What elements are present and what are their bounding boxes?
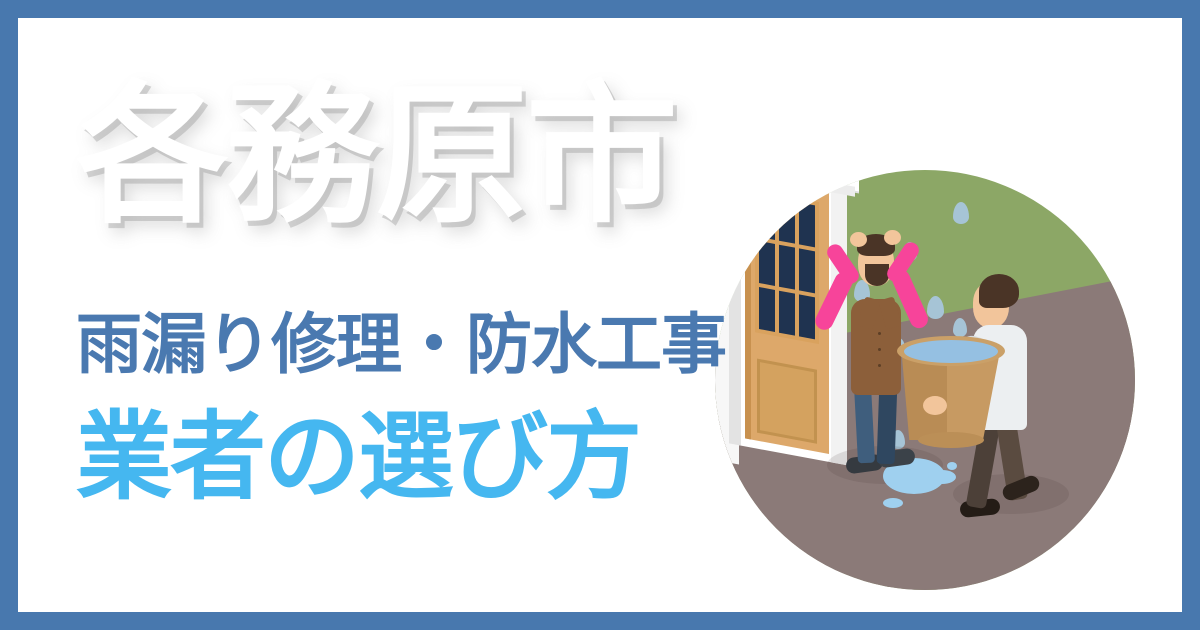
bucket-water	[904, 340, 998, 363]
button	[878, 348, 881, 351]
water-puddle	[947, 462, 957, 470]
banner-subtitle: 雨漏り修理・防水工事	[76, 311, 726, 377]
glass-pane	[779, 245, 795, 290]
door-assembly	[715, 170, 861, 478]
door-casing-shadow	[729, 170, 741, 446]
glass-pane	[759, 195, 775, 240]
raindrop	[953, 318, 967, 337]
banner-tagline: 業者の選び方	[76, 410, 640, 506]
glass-pane	[759, 287, 775, 332]
hand	[923, 396, 947, 415]
banner-inner: 各務原市 雨漏り修理・防水工事 業者の選び方	[18, 18, 1182, 612]
glass-pane	[779, 199, 795, 244]
bucket-base	[918, 432, 984, 448]
hair	[979, 274, 1019, 308]
door-lower-panel	[757, 359, 817, 444]
roof-leak-illustration	[715, 170, 1135, 590]
glass-pane	[759, 241, 775, 286]
door-slab-edge	[745, 176, 751, 439]
banner-frame: 各務原市 雨漏り修理・防水工事 業者の選び方	[0, 0, 1200, 630]
button	[878, 332, 881, 335]
door-glass-grid	[755, 190, 819, 344]
glass-pane	[799, 248, 815, 293]
water-puddle	[883, 498, 903, 508]
glass-pane	[779, 291, 795, 336]
page-title: 各務原市	[76, 80, 676, 232]
glass-pane	[799, 294, 815, 339]
button	[878, 364, 881, 367]
raindrop	[953, 202, 969, 224]
hand	[850, 232, 867, 247]
beard	[865, 264, 889, 286]
glass-pane	[799, 202, 815, 247]
water-puddle	[928, 470, 956, 484]
hand	[884, 230, 901, 245]
